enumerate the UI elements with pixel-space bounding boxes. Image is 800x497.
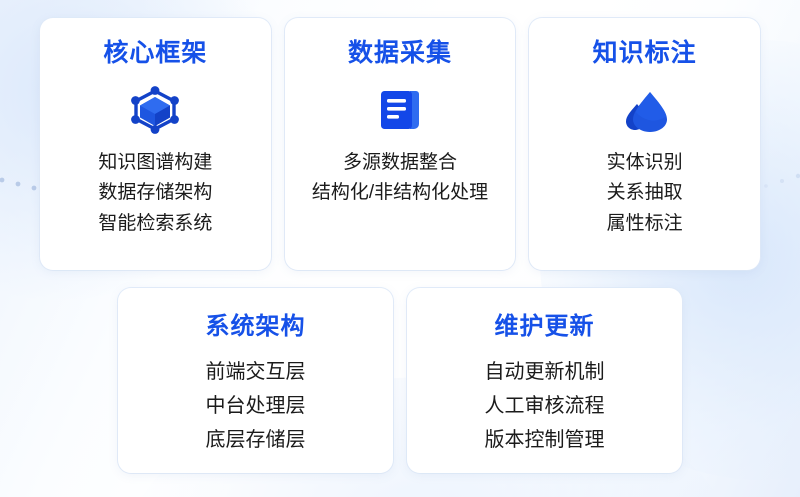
card-title: 维护更新 — [495, 314, 595, 340]
card-system-architecture[interactable]: 系统架构 前端交互层 中台处理层 底层存储层 — [118, 288, 393, 473]
bottom-card-row: 系统架构 前端交互层 中台处理层 底层存储层 维护更新 自动更新机制 人工审核流… — [40, 288, 760, 473]
card-feature-list: 多源数据整合 结构化/非结构化处理 — [312, 150, 488, 208]
list-item: 智能检索系统 — [98, 211, 212, 238]
card-feature-list: 知识图谱构建 数据存储架构 智能检索系统 — [98, 150, 212, 239]
cube-network-icon — [127, 84, 183, 136]
card-data-collection[interactable]: 数据采集 多源数据整合 结构化/非结构化处理 — [285, 18, 516, 270]
list-item: 底层存储层 — [206, 426, 306, 454]
card-feature-list: 前端交互层 中台处理层 底层存储层 — [206, 358, 306, 454]
card-title: 系统架构 — [206, 314, 306, 340]
list-item: 自动更新机制 — [485, 358, 605, 386]
list-item: 关系抽取 — [607, 180, 683, 207]
list-item: 多源数据整合 — [312, 150, 488, 177]
list-item: 版本控制管理 — [485, 426, 605, 454]
card-core-framework[interactable]: 核心框架 — [40, 18, 271, 270]
list-item: 人工审核流程 — [485, 392, 605, 420]
feature-card-board: 核心框架 — [0, 0, 800, 497]
card-title: 数据采集 — [348, 40, 452, 68]
water-drop-icon — [617, 84, 673, 136]
list-item: 前端交互层 — [206, 358, 306, 386]
list-item: 知识图谱构建 — [98, 150, 212, 177]
top-card-row: 核心框架 — [40, 18, 760, 270]
card-feature-list: 自动更新机制 人工审核流程 版本控制管理 — [485, 358, 605, 454]
list-item: 中台处理层 — [206, 392, 306, 420]
list-item: 实体识别 — [607, 150, 683, 177]
card-feature-list: 实体识别 关系抽取 属性标注 — [607, 150, 683, 239]
document-lines-icon — [372, 84, 428, 136]
card-knowledge-annotation[interactable]: 知识标注 实体识别 关系抽取 属性标注 — [529, 18, 760, 270]
card-title: 核心框架 — [103, 40, 207, 68]
list-item: 属性标注 — [607, 211, 683, 238]
card-maintenance-update[interactable]: 维护更新 自动更新机制 人工审核流程 版本控制管理 — [407, 288, 682, 473]
list-item: 结构化/非结构化处理 — [312, 180, 488, 207]
card-title: 知识标注 — [593, 40, 697, 68]
list-item: 数据存储架构 — [98, 180, 212, 207]
